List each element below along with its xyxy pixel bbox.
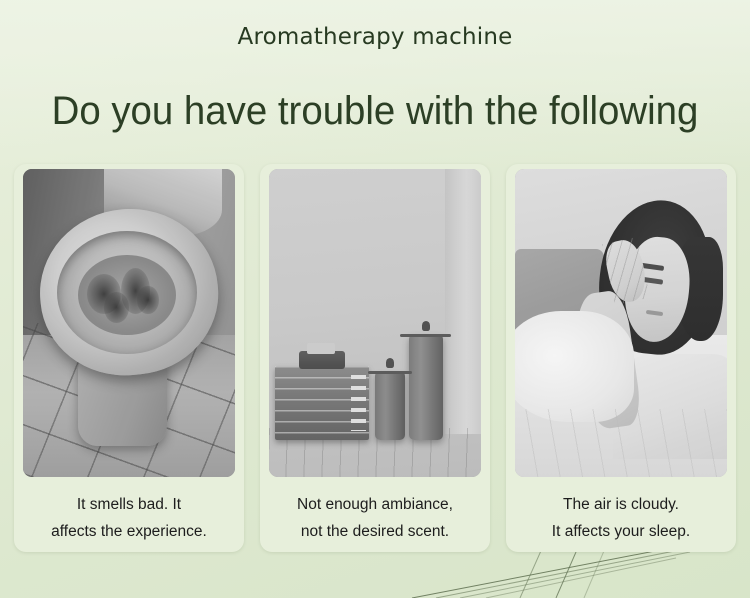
problem-card-list: It smells bad. It affects the experience… bbox=[14, 164, 736, 556]
problem-card-2-caption: Not enough ambiance, not the desired sce… bbox=[268, 491, 482, 545]
caption-line-1: It smells bad. It bbox=[22, 491, 236, 518]
promo-banner: Aromatherapy machine Do you have trouble… bbox=[0, 0, 750, 598]
problem-card-1-caption: It smells bad. It affects the experience… bbox=[22, 491, 236, 545]
dirty-toilet-photo bbox=[23, 169, 235, 477]
caption-line-2: affects the experience. bbox=[22, 518, 236, 545]
tired-woman-photo bbox=[515, 169, 727, 477]
problem-card-3-caption: The air is cloudy. It affects your sleep… bbox=[514, 491, 728, 545]
problem-card-1[interactable]: It smells bad. It affects the experience… bbox=[14, 164, 244, 552]
problem-card-3[interactable]: The air is cloudy. It affects your sleep… bbox=[506, 164, 736, 552]
home-decor-photo bbox=[269, 169, 481, 477]
problem-card-2[interactable]: Not enough ambiance, not the desired sce… bbox=[260, 164, 490, 552]
page-title: Do you have trouble with the following bbox=[15, 88, 735, 134]
caption-line-2: not the desired scent. bbox=[268, 518, 482, 545]
caption-line-1: The air is cloudy. bbox=[514, 491, 728, 518]
caption-line-2: It affects your sleep. bbox=[514, 518, 728, 545]
caption-line-1: Not enough ambiance, bbox=[268, 491, 482, 518]
product-subtitle: Aromatherapy machine bbox=[0, 24, 750, 50]
